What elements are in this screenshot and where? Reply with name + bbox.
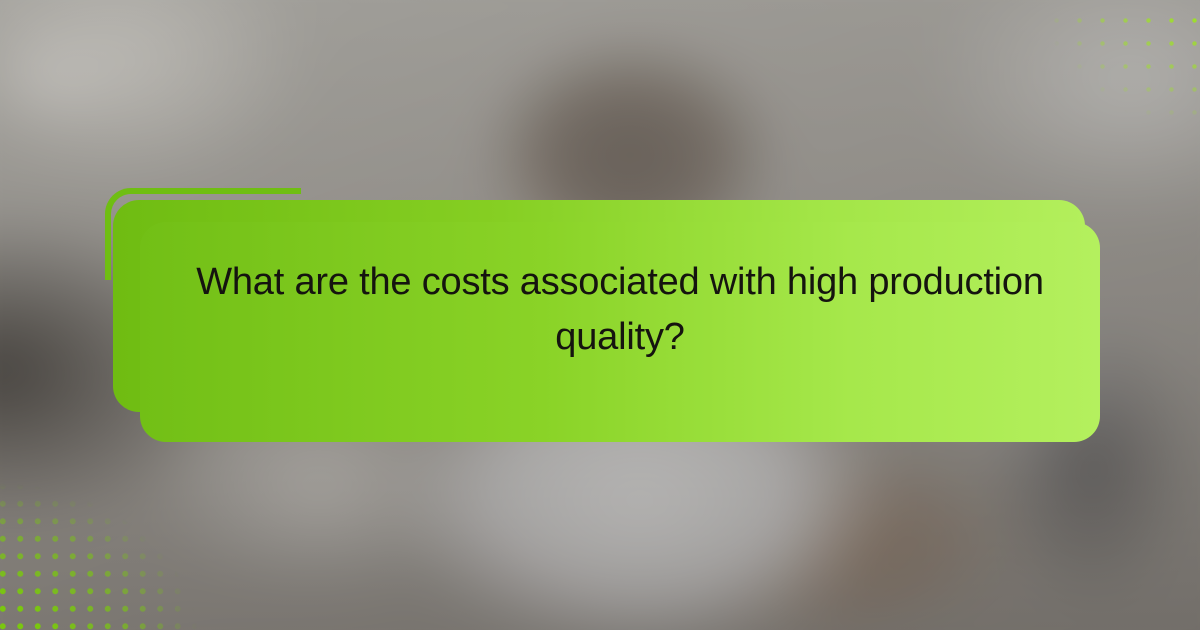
question-text: What are the costs associated with high … — [140, 200, 1100, 420]
